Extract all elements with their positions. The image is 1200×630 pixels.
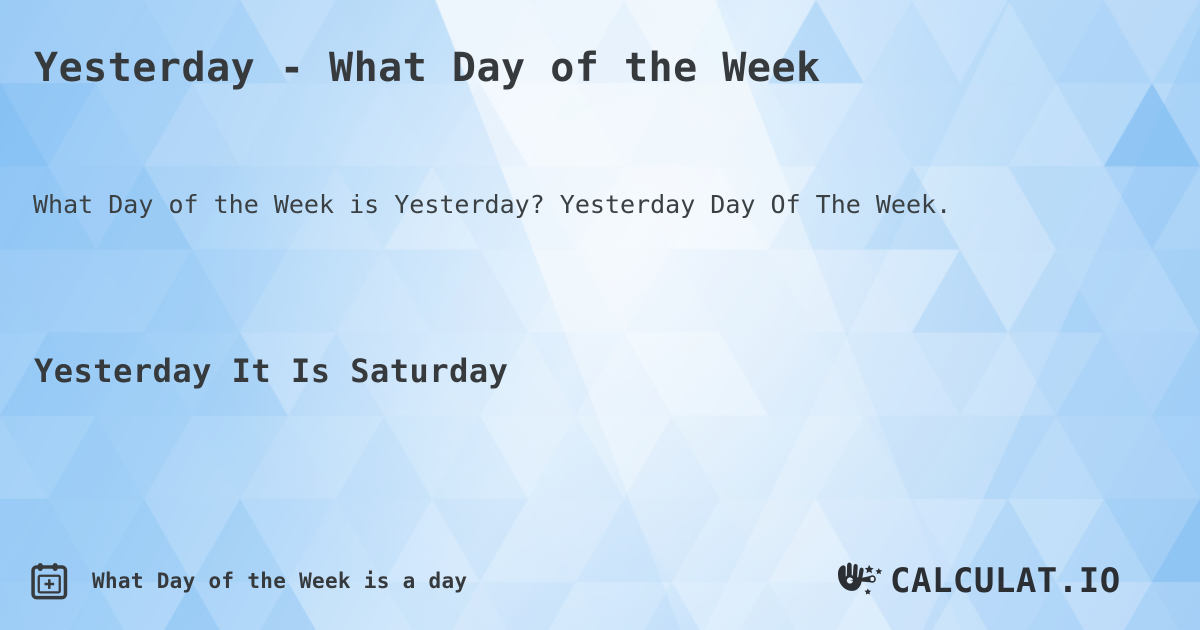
footer-left-group: What Day of the Week is a day bbox=[30, 560, 467, 602]
calendar-plus-icon bbox=[30, 560, 72, 602]
footer-label: What Day of the Week is a day bbox=[92, 569, 467, 593]
magic-wand-hand-icon bbox=[832, 559, 888, 603]
brand-wordmark: CALCULAT.IO bbox=[890, 560, 1172, 602]
footer: What Day of the Week is a day CALCULAT.I… bbox=[0, 545, 1200, 617]
page-content: Yesterday - What Day of the Week What Da… bbox=[0, 0, 1200, 630]
answer-heading: Yesterday It Is Saturday bbox=[34, 352, 508, 390]
brand-logo[interactable]: CALCULAT.IO bbox=[832, 559, 1172, 603]
page-title: Yesterday - What Day of the Week bbox=[34, 45, 1154, 91]
page-description: What Day of the Week is Yesterday? Yeste… bbox=[33, 185, 1093, 226]
brand-wordmark-text: CALCULAT.IO bbox=[890, 561, 1121, 601]
